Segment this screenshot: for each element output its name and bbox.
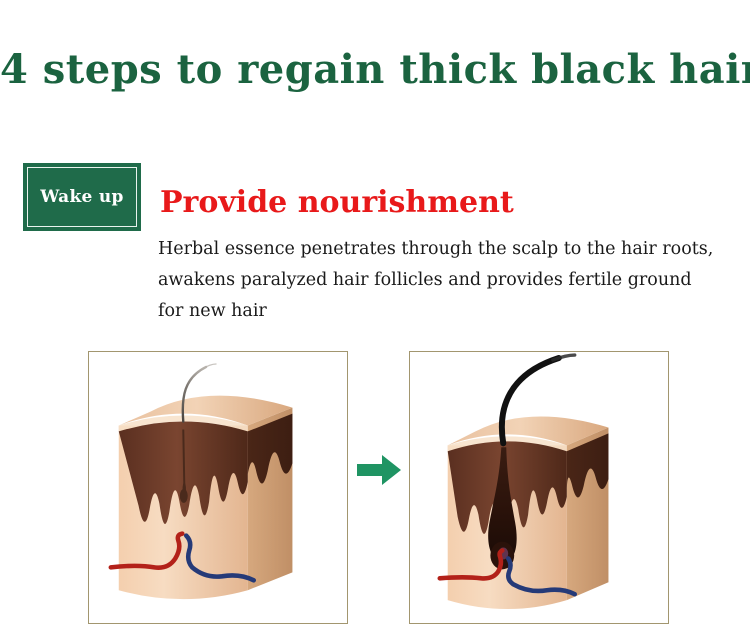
- section-body-text: Herbal essence penetrates through the sc…: [158, 234, 718, 327]
- illustration-panel-after: [409, 351, 669, 624]
- wake-up-badge-label: Wake up: [27, 167, 137, 227]
- wake-up-badge: Wake up: [23, 163, 141, 231]
- section-heading: Provide nourishment: [160, 185, 514, 221]
- illustration-panel-before: [88, 351, 348, 624]
- skin-cross-section-thin-hair-icon: [89, 352, 347, 623]
- arrow-right-icon: [355, 452, 403, 488]
- skin-cross-section-thick-hair-icon: [410, 352, 668, 623]
- page-title: 4 steps to regain thick black hair: [0, 47, 750, 93]
